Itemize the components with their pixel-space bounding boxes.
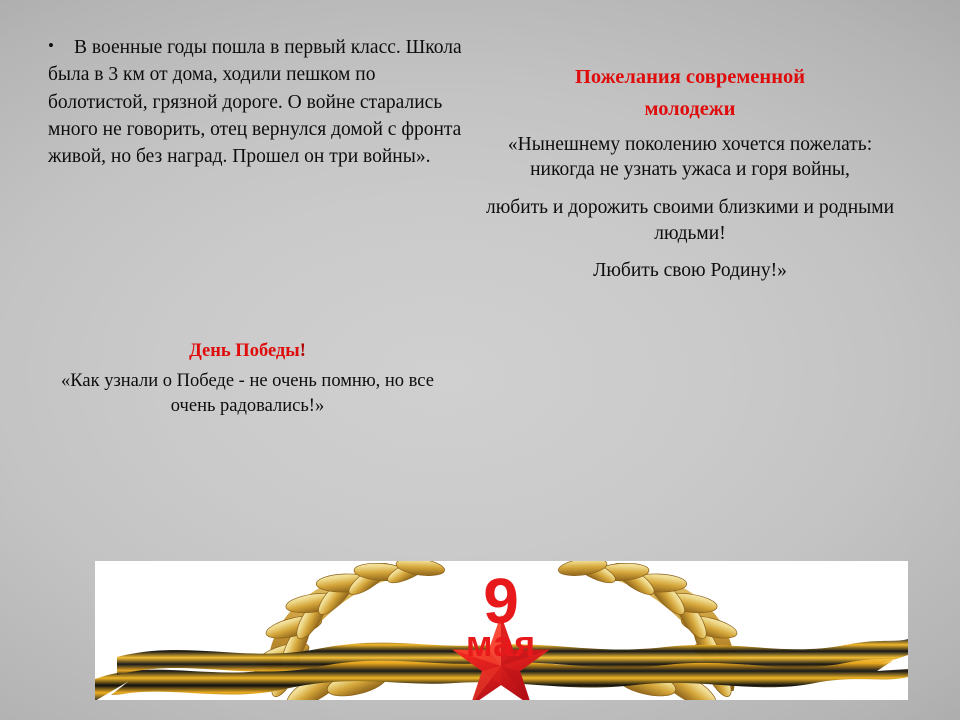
memoir-text-block: •В военные годы пошла в первый класс. Шк… — [48, 34, 468, 170]
bullet-icon: • — [48, 34, 74, 58]
wishes-paragraph-3: Любить свою Родину!» — [480, 258, 900, 284]
victory-day-block: День Победы! «Как узнали о Победе - не о… — [40, 341, 455, 418]
wishes-paragraph-2: любить и дорожить своими близкими и родн… — [480, 195, 900, 246]
banner-artwork: 9 мая — [95, 561, 908, 700]
wishes-heading-line-1: Пожелания современной — [480, 62, 900, 94]
memoir-paragraph: В военные годы пошла в первый класс. Шко… — [48, 37, 462, 167]
victory-day-banner-image: 9 мая — [95, 561, 908, 700]
wishes-heading-line-2: молодежи — [480, 94, 900, 126]
wishes-block: Пожелания современной молодежи «Нынешнем… — [480, 62, 900, 296]
wishes-heading: Пожелания современной молодежи — [480, 62, 900, 126]
victory-day-quote: «Как узнали о Победе - не очень помню, н… — [40, 369, 455, 418]
wishes-paragraph-1: «Нынешнему поколению хочется пожелать: н… — [480, 132, 900, 183]
victory-day-heading-text: День Победы — [189, 341, 300, 361]
victory-day-heading: День Победы! — [40, 341, 455, 362]
banner-month-label: мая — [466, 623, 536, 664]
slide-canvas: •В военные годы пошла в первый класс. Шк… — [0, 0, 960, 720]
victory-day-heading-exclamation: ! — [300, 341, 306, 361]
